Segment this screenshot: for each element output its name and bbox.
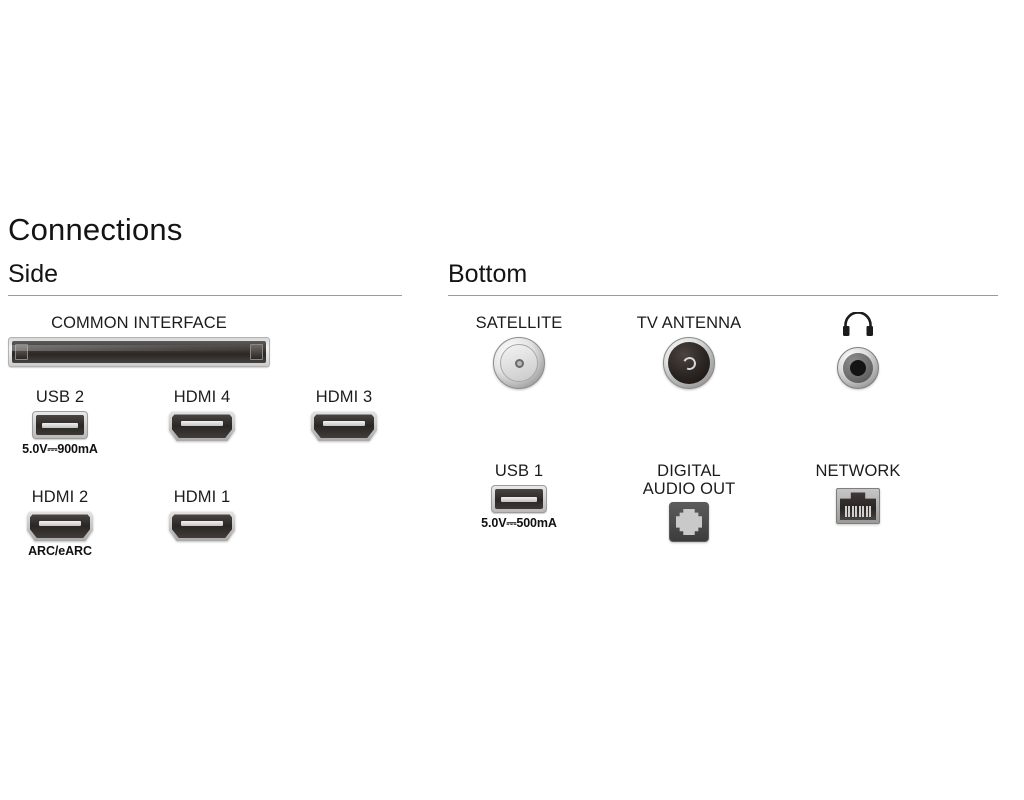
hdmi-icon: [294, 411, 394, 441]
port-hdmi-3[interactable]: HDMI 3: [294, 388, 394, 441]
headphone-jack-icon: [808, 347, 908, 389]
ci-slot-icon: [8, 337, 270, 367]
section-title-bottom: Bottom: [448, 262, 998, 287]
port-headphone[interactable]: [808, 312, 908, 389]
port-satellite[interactable]: SATELLITE: [459, 314, 579, 389]
hdmi-icon: [152, 411, 252, 441]
port-label-usb-1: USB 1: [466, 462, 572, 480]
ci-key-left: [15, 344, 28, 360]
port-tv-antenna[interactable]: TV ANTENNA: [619, 314, 759, 389]
port-label-hdmi-4: HDMI 4: [152, 388, 252, 406]
hdmi-icon: [152, 511, 252, 541]
port-label-satellite: SATELLITE: [459, 314, 579, 332]
port-sub-hdmi-2: ARC/eARC: [10, 544, 110, 558]
headphone-icon: [808, 312, 908, 338]
section-divider-side: [8, 295, 402, 296]
section-divider-bottom: [448, 295, 998, 296]
usb-type-a-icon: [7, 411, 113, 439]
port-common-interface[interactable]: COMMON INTERFACE: [8, 314, 270, 367]
coax-antenna-icon: [619, 337, 759, 389]
port-usb-1[interactable]: USB 1 5.0V⎓500mA: [466, 462, 572, 531]
rj45-network-icon: [798, 488, 918, 524]
port-label-digital-audio-out-line1: DIGITAL: [619, 462, 759, 480]
port-hdmi-2[interactable]: HDMI 2 ARC/eARC: [10, 488, 110, 558]
page-title: Connections: [8, 214, 183, 245]
port-sub-usb-2: 5.0V⎓900mA: [7, 442, 113, 457]
rj45-pins: [845, 506, 872, 517]
port-digital-audio-out[interactable]: DIGITAL AUDIO OUT: [619, 462, 759, 542]
optical-toslink-icon: [619, 502, 759, 542]
port-label-hdmi-3: HDMI 3: [294, 388, 394, 406]
port-hdmi-4[interactable]: HDMI 4: [152, 388, 252, 441]
port-label-usb-2: USB 2: [7, 388, 113, 406]
port-label-hdmi-2: HDMI 2: [10, 488, 110, 506]
port-label-hdmi-1: HDMI 1: [152, 488, 252, 506]
usb-type-a-icon: [466, 485, 572, 513]
port-hdmi-1[interactable]: HDMI 1: [152, 488, 252, 541]
section-title-side: Side: [8, 262, 402, 287]
hdmi-icon: [10, 511, 110, 541]
section-side: Side: [8, 262, 402, 296]
ci-key-right: [250, 344, 263, 360]
port-usb-2[interactable]: USB 2 5.0V⎓900mA: [7, 388, 113, 457]
port-label-tv-antenna: TV ANTENNA: [619, 314, 759, 332]
port-label-digital-audio-out-line2: AUDIO OUT: [619, 480, 759, 498]
port-sub-usb-1: 5.0V⎓500mA: [466, 516, 572, 531]
coax-f-connector-icon: [459, 337, 579, 389]
section-bottom: Bottom: [448, 262, 998, 296]
port-label-common-interface: COMMON INTERFACE: [8, 314, 270, 332]
port-network[interactable]: NETWORK: [798, 462, 918, 524]
port-label-network: NETWORK: [798, 462, 918, 480]
